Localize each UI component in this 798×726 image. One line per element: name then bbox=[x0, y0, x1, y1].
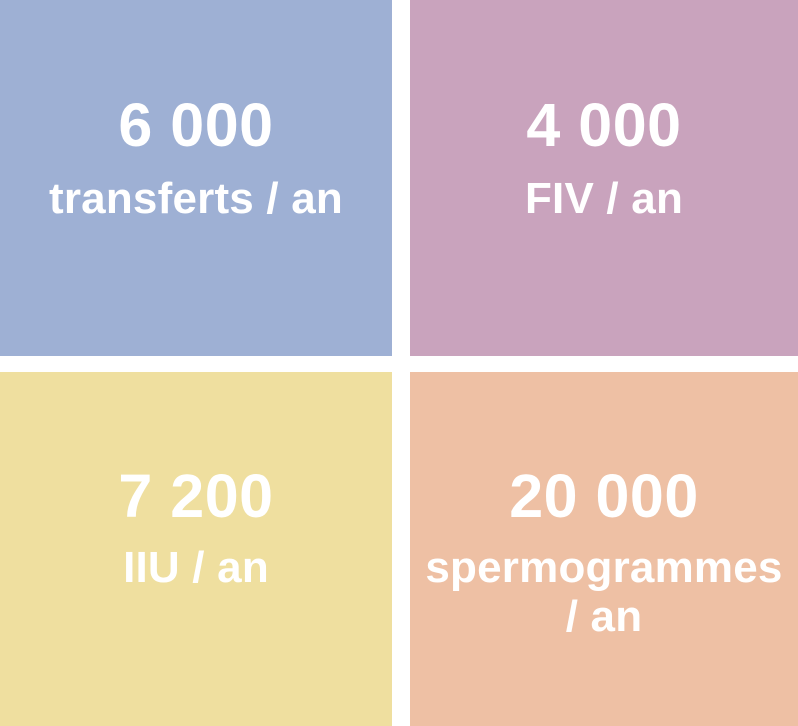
stat-tile-content: 4 000 FIV / an bbox=[410, 0, 798, 223]
stat-value-fiv: 4 000 bbox=[526, 95, 681, 156]
stat-value-spermogrammes: 20 000 bbox=[509, 466, 699, 527]
stat-value-iiu: 7 200 bbox=[118, 466, 273, 527]
stat-tile-transferts: 6 000 transferts / an bbox=[0, 0, 392, 356]
stat-label-fiv: FIV / an bbox=[519, 174, 689, 223]
stat-label-spermogrammes: spermogrammes / an bbox=[410, 543, 798, 642]
stat-tile-content: 20 000 spermogrammes / an bbox=[410, 372, 798, 642]
stat-tile-grid: 6 000 transferts / an 4 000 FIV / an 7 2… bbox=[0, 0, 798, 726]
stat-tile-spermogrammes: 20 000 spermogrammes / an bbox=[410, 372, 798, 726]
stat-tile-iiu: 7 200 IIU / an bbox=[0, 372, 392, 726]
stat-tile-fiv: 4 000 FIV / an bbox=[410, 0, 798, 356]
stat-label-iiu: IIU / an bbox=[117, 543, 275, 592]
stat-tile-content: 6 000 transferts / an bbox=[0, 0, 392, 223]
stat-tile-content: 7 200 IIU / an bbox=[0, 372, 392, 592]
stat-value-transferts: 6 000 bbox=[118, 95, 273, 156]
stat-label-transferts: transferts / an bbox=[43, 174, 349, 223]
